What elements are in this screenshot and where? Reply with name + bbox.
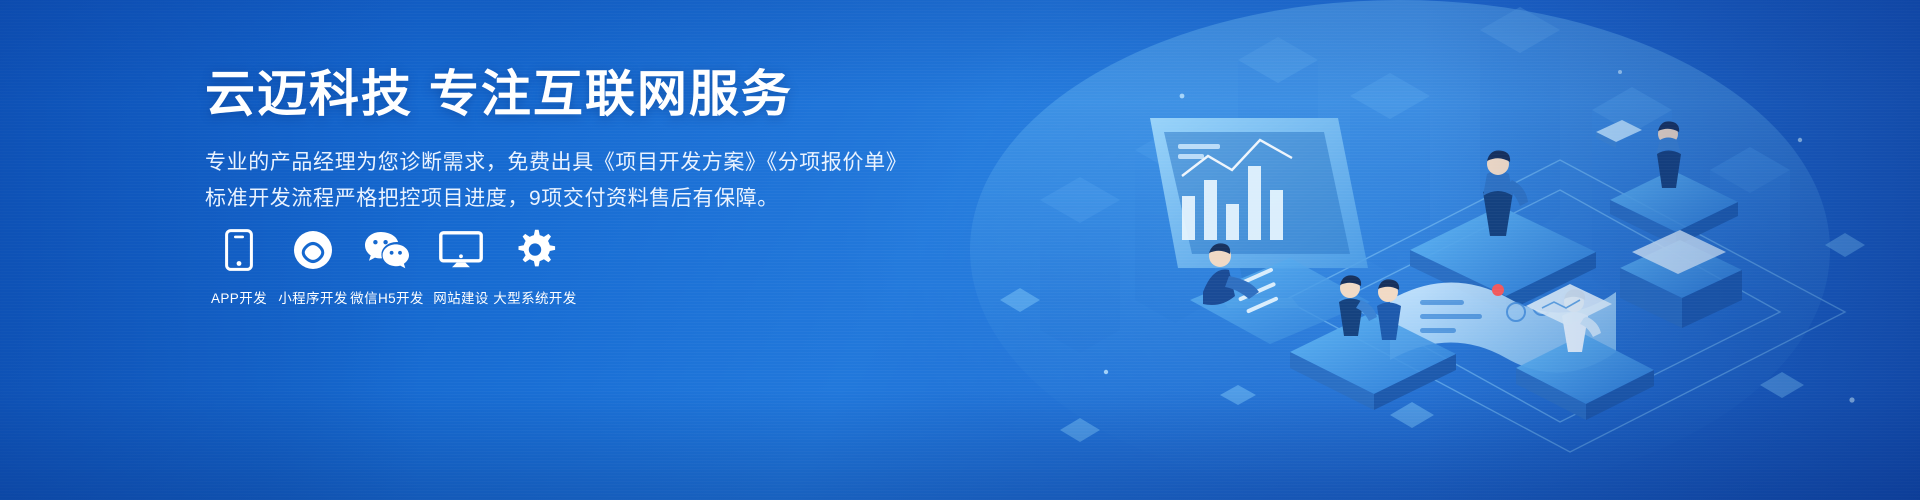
service-label: 小程序开发 [278, 287, 348, 307]
service-label: 网站建设 [433, 287, 489, 307]
service-label: 大型系统开发 [493, 287, 576, 307]
service-item-large-system[interactable]: 大型系统开发 [499, 228, 571, 307]
subtitle-line-2: 标准开发流程严格把控项目进度，9项交付资料售后有保障。 [205, 182, 965, 216]
service-label: 微信H5开发 [350, 287, 424, 307]
service-item-mini-program[interactable]: 小程序开发 [277, 228, 349, 307]
service-item-app[interactable]: APP开发 [203, 228, 275, 307]
hero-content: 云迈科技 专注互联网服务 专业的产品经理为您诊断需求，免费出具《项目开发方案》《… [205, 66, 965, 218]
service-label: APP开发 [211, 287, 267, 307]
service-list: APP开发 小程序开发 微信 [203, 228, 573, 307]
hero-banner: 云迈科技 专注互联网服务 专业的产品经理为您诊断需求，免费出具《项目开发方案》《… [0, 0, 1920, 500]
monitor-icon [439, 228, 483, 272]
service-item-website[interactable]: 网站建设 [425, 228, 497, 307]
mobile-phone-icon [225, 228, 253, 272]
illustration-isometric-data-platform [920, 0, 1920, 500]
wechat-icon [364, 228, 410, 272]
service-item-wechat-h5[interactable]: 微信H5开发 [351, 228, 423, 307]
gear-icon [514, 228, 556, 272]
subtitle-line-1: 专业的产品经理为您诊断需求，免费出具《项目开发方案》《分项报价单》 [205, 146, 965, 180]
hero-subtitle: 专业的产品经理为您诊断需求，免费出具《项目开发方案》《分项报价单》 标准开发流程… [205, 146, 965, 216]
page-title: 云迈科技 专注互联网服务 [205, 66, 965, 122]
mini-program-icon [293, 228, 333, 272]
